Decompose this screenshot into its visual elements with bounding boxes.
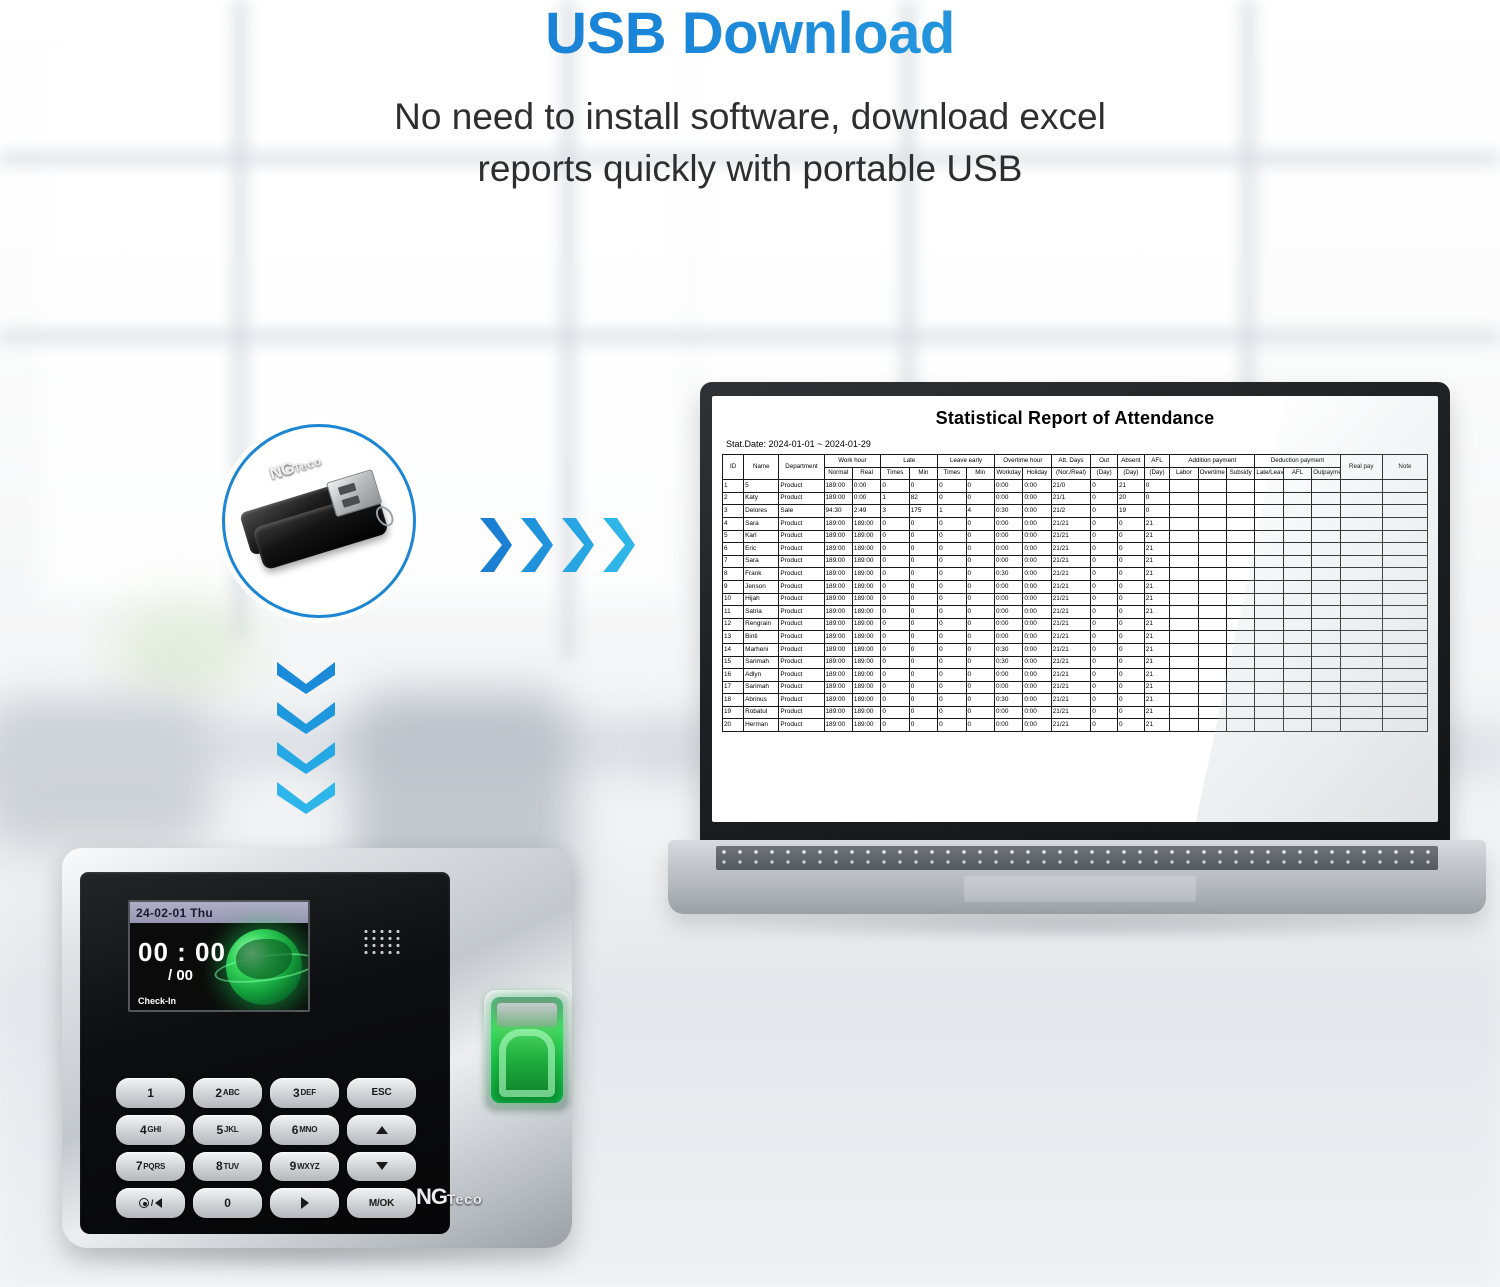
cell-et: 0 <box>938 706 966 719</box>
col-department: Department <box>779 455 824 480</box>
cell-empty <box>1312 568 1340 581</box>
key-label: 7 <box>136 1159 142 1173</box>
cell-et: 0 <box>938 656 966 669</box>
table-row: 7SaraProduct189:00189:0000000:000:0021/2… <box>723 555 1428 568</box>
terminal-brand-text: NG <box>416 1184 447 1209</box>
key-label: 1 <box>147 1086 153 1100</box>
cell-abs: 19 <box>1118 505 1145 518</box>
cell-out: 0 <box>1091 656 1118 669</box>
cell-empty <box>1226 517 1254 530</box>
cell-lt: 0 <box>881 669 909 682</box>
cell-otw: 0:00 <box>994 706 1022 719</box>
cell-id: 14 <box>723 643 744 656</box>
cell-normal: 189:00 <box>824 618 852 631</box>
usb-brand-text: NG <box>267 458 296 483</box>
cell-oth: 0:00 <box>1023 505 1051 518</box>
cell-empty <box>1198 593 1226 606</box>
key-0-button[interactable]: 0 <box>193 1188 262 1218</box>
cell-oth: 0:00 <box>1023 606 1051 619</box>
cell-name: Abrinus <box>744 694 779 707</box>
cell-empty <box>1255 669 1283 682</box>
table-row: 20HermanProduct189:00189:0000000:000:002… <box>723 719 1428 732</box>
cell-empty <box>1226 480 1254 493</box>
cell-empty <box>1382 719 1427 732</box>
cell-id: 18 <box>723 694 744 707</box>
key-9-button[interactable]: 9WXYZ <box>270 1152 339 1182</box>
sub-ded-afl: AFL <box>1283 467 1311 480</box>
key-5-button[interactable]: 5JKL <box>193 1115 262 1145</box>
cell-real: 189:00 <box>852 719 880 732</box>
cell-oth: 0:00 <box>1023 593 1051 606</box>
cell-empty <box>1340 656 1382 669</box>
col-id: ID <box>723 455 744 480</box>
cell-afl: 21 <box>1144 618 1169 631</box>
cell-normal: 189:00 <box>824 631 852 644</box>
cell-empty <box>1226 681 1254 694</box>
cell-att: 21/21 <box>1051 593 1090 606</box>
cell-normal: 189:00 <box>824 543 852 556</box>
cell-empty <box>1198 618 1226 631</box>
cell-lt: 0 <box>881 543 909 556</box>
arrow-up-icon[interactable] <box>347 1115 416 1145</box>
cell-oth: 0:00 <box>1023 530 1051 543</box>
col-afl: AFL <box>1144 455 1169 468</box>
cell-empty <box>1312 643 1340 656</box>
cell-oth: 0:00 <box>1023 643 1051 656</box>
cell-lt: 0 <box>881 719 909 732</box>
key-sublabel: GHI <box>147 1125 161 1134</box>
cell-empty <box>1255 694 1283 707</box>
display-clock: 00 : 00 <box>138 937 226 968</box>
laptop-trackpad[interactable] <box>964 876 1196 902</box>
sub-late-times: Times <box>881 467 909 480</box>
cell-otw: 0:00 <box>994 618 1022 631</box>
cell-empty <box>1255 543 1283 556</box>
cell-em: 0 <box>966 606 994 619</box>
cell-abs: 0 <box>1118 643 1145 656</box>
cell-normal: 189:00 <box>824 480 852 493</box>
cell-empty <box>1198 517 1226 530</box>
cell-empty <box>1170 681 1198 694</box>
cell-otw: 0:00 <box>994 480 1022 493</box>
cell-abs: 0 <box>1118 543 1145 556</box>
sub-real: Real <box>852 467 880 480</box>
sub-le-min: Min <box>966 467 994 480</box>
cell-out: 0 <box>1091 631 1118 644</box>
table-row: 8FrankProduct189:00189:0000000:300:0021/… <box>723 568 1428 581</box>
cell-dept: Product <box>779 631 824 644</box>
cell-normal: 189:00 <box>824 694 852 707</box>
cell-oth: 0:00 <box>1023 656 1051 669</box>
key-label: 4 <box>140 1123 146 1137</box>
laptop-lid: Statistical Report of Attendance Stat.Da… <box>700 382 1450 844</box>
sub-subsidy: Subsidy <box>1226 467 1254 480</box>
cell-abs: 21 <box>1118 480 1145 493</box>
bg-desk <box>0 726 700 766</box>
cell-name: Herman <box>744 719 779 732</box>
cell-empty <box>1283 656 1311 669</box>
report-title: Statistical Report of Attendance <box>722 408 1428 429</box>
cell-empty <box>1170 669 1198 682</box>
cell-empty <box>1226 543 1254 556</box>
cell-em: 0 <box>966 631 994 644</box>
cell-id: 1 <box>723 480 744 493</box>
cell-real: 189:00 <box>852 643 880 656</box>
cell-normal: 189:00 <box>824 706 852 719</box>
cell-empty <box>1198 681 1226 694</box>
cell-id: 4 <box>723 517 744 530</box>
cell-empty <box>1226 618 1254 631</box>
cell-et: 0 <box>938 606 966 619</box>
cell-empty <box>1226 656 1254 669</box>
cell-name: Delores <box>744 505 779 518</box>
cell-empty <box>1170 568 1198 581</box>
cell-name: Eric <box>744 543 779 556</box>
cell-empty <box>1312 719 1340 732</box>
sub-holiday: Holiday <box>1023 467 1051 480</box>
key-label: 2 <box>215 1086 221 1100</box>
cell-em: 0 <box>966 618 994 631</box>
table-row: 15Product189:000:0000000:000:0021/00210 <box>723 480 1428 493</box>
col-group-deduction-payment: Deduction payment <box>1255 455 1340 468</box>
cell-empty <box>1198 694 1226 707</box>
cell-empty <box>1382 492 1427 505</box>
cell-att: 21/21 <box>1051 618 1090 631</box>
cell-empty <box>1198 543 1226 556</box>
cell-empty <box>1340 480 1382 493</box>
cell-abs: 0 <box>1118 669 1145 682</box>
cell-empty <box>1226 580 1254 593</box>
key-6-button[interactable]: 6MNO <box>270 1115 339 1145</box>
cell-dept: Product <box>779 580 824 593</box>
report-table-body: 15Product189:000:0000000:000:0021/002102… <box>723 480 1428 732</box>
cell-empty <box>1198 631 1226 644</box>
cell-oth: 0:00 <box>1023 669 1051 682</box>
table-row: 14MarheniProduct189:00189:0000000:300:00… <box>723 643 1428 656</box>
cell-lm: 82 <box>909 492 937 505</box>
cell-otw: 0:00 <box>994 530 1022 543</box>
cell-name: Sara <box>744 517 779 530</box>
usb-brand-logo: NGTeco <box>267 450 324 485</box>
sub-workday: Workday <box>994 467 1022 480</box>
cell-otw: 0:00 <box>994 555 1022 568</box>
chevron-right-icon <box>601 516 637 574</box>
cell-empty <box>1283 669 1311 682</box>
cell-empty <box>1283 681 1311 694</box>
sub-overtime: Overtime <box>1198 467 1226 480</box>
key-m-ok-button[interactable]: M/OK <box>347 1188 416 1218</box>
terminal-brand-suffix: Teco <box>447 1191 483 1207</box>
cell-abs: 0 <box>1118 656 1145 669</box>
cell-lm: 0 <box>909 681 937 694</box>
cell-real: 189:00 <box>852 669 880 682</box>
cell-empty <box>1283 530 1311 543</box>
cell-att: 21/21 <box>1051 706 1090 719</box>
table-row: 13BintiProduct189:00189:0000000:000:0021… <box>723 631 1428 644</box>
cell-id: 15 <box>723 656 744 669</box>
cell-em: 0 <box>966 580 994 593</box>
cell-empty <box>1198 505 1226 518</box>
terminal-keypad: 12ABC3DEFESC4GHI5JKL6MNO7PQRS8TUV9WXYZ/0… <box>116 1078 416 1218</box>
cell-lm: 0 <box>909 480 937 493</box>
cell-empty <box>1283 480 1311 493</box>
cell-empty <box>1255 681 1283 694</box>
arrow-up-glyph <box>376 1126 388 1134</box>
key-4-button[interactable]: 4GHI <box>116 1115 185 1145</box>
cell-empty <box>1312 492 1340 505</box>
cell-lt: 0 <box>881 606 909 619</box>
cell-lm: 0 <box>909 543 937 556</box>
cell-empty <box>1226 706 1254 719</box>
cell-real: 189:00 <box>852 530 880 543</box>
cell-empty <box>1255 706 1283 719</box>
col-group-work-hour: Work hour <box>824 455 881 468</box>
header: USB Download No need to install software… <box>0 0 1500 196</box>
cell-afl: 0 <box>1144 480 1169 493</box>
cell-empty <box>1382 580 1427 593</box>
cell-empty <box>1312 480 1340 493</box>
cell-empty <box>1170 505 1198 518</box>
cell-lm: 0 <box>909 631 937 644</box>
cell-empty <box>1382 555 1427 568</box>
cell-empty <box>1170 543 1198 556</box>
sub-le-times: Times <box>938 467 966 480</box>
cell-em: 0 <box>966 517 994 530</box>
col-att-days: Att. Days <box>1051 455 1090 468</box>
key-7-button[interactable]: 7PQRS <box>116 1152 185 1182</box>
cell-lm: 0 <box>909 580 937 593</box>
sub-att-days: (Nor./Real) <box>1051 467 1090 480</box>
fingerprint-scanner[interactable] <box>484 990 570 1110</box>
key-sublabel: ABC <box>223 1088 240 1097</box>
cell-empty <box>1382 643 1427 656</box>
cell-lm: 175 <box>909 505 937 518</box>
cell-real: 189:00 <box>852 593 880 606</box>
chevron-right-icon <box>519 516 555 574</box>
cell-out: 0 <box>1091 706 1118 719</box>
cell-empty <box>1255 580 1283 593</box>
cell-normal: 189:00 <box>824 681 852 694</box>
cell-otw: 0:00 <box>994 492 1022 505</box>
cell-empty <box>1340 618 1382 631</box>
cell-dept: Product <box>779 656 824 669</box>
cell-lt: 0 <box>881 555 909 568</box>
cell-empty <box>1226 669 1254 682</box>
cell-out: 0 <box>1091 505 1118 518</box>
cell-dept: Product <box>779 618 824 631</box>
cell-empty <box>1198 656 1226 669</box>
cell-empty <box>1255 719 1283 732</box>
cell-att: 21/21 <box>1051 555 1090 568</box>
cell-normal: 189:00 <box>824 643 852 656</box>
cell-empty <box>1170 706 1198 719</box>
cell-otw: 0:00 <box>994 543 1022 556</box>
cell-empty <box>1255 631 1283 644</box>
cell-normal: 189:00 <box>824 492 852 505</box>
cell-oth: 0:00 <box>1023 555 1051 568</box>
sub-labor: Labor <box>1170 467 1198 480</box>
cell-afl: 21 <box>1144 669 1169 682</box>
key-1-button[interactable]: 1 <box>116 1078 185 1108</box>
cell-otw: 0:00 <box>994 606 1022 619</box>
cell-lt: 0 <box>881 580 909 593</box>
cell-real: 0:00 <box>852 480 880 493</box>
chevron-right-icon <box>560 516 596 574</box>
cell-abs: 0 <box>1118 719 1145 732</box>
cell-id: 19 <box>723 706 744 719</box>
cell-att: 21/2 <box>1051 505 1090 518</box>
cell-dept: Product <box>779 606 824 619</box>
page-title: USB Download <box>0 4 1500 65</box>
cell-em: 0 <box>966 480 994 493</box>
cell-empty <box>1340 492 1382 505</box>
cell-otw: 0:00 <box>994 580 1022 593</box>
laptop-screen: Statistical Report of Attendance Stat.Da… <box>712 396 1438 822</box>
cell-lt: 0 <box>881 593 909 606</box>
globe-icon <box>226 929 302 1005</box>
table-row: 3DeloresSale94:302:493175140:300:0021/20… <box>723 505 1428 518</box>
cell-empty <box>1255 530 1283 543</box>
display-date-bar: 24-02-01 Thu <box>130 902 308 923</box>
power-left-glyph: / <box>139 1198 162 1208</box>
cell-et: 0 <box>938 694 966 707</box>
cell-dept: Product <box>779 593 824 606</box>
cell-real: 189:00 <box>852 606 880 619</box>
cell-att: 21/21 <box>1051 606 1090 619</box>
cell-et: 0 <box>938 530 966 543</box>
keyboard-keys <box>720 848 1434 868</box>
key-3-button[interactable]: 3DEF <box>270 1078 339 1108</box>
usb-brand-suffix: Teco <box>292 455 323 475</box>
key-8-button[interactable]: 8TUV <box>193 1152 262 1182</box>
key-2-button[interactable]: 2ABC <box>193 1078 262 1108</box>
cell-normal: 189:00 <box>824 517 852 530</box>
cell-empty <box>1170 593 1198 606</box>
cell-empty <box>1340 719 1382 732</box>
key-esc-button[interactable]: ESC <box>347 1078 416 1108</box>
cell-empty <box>1340 706 1382 719</box>
key-sublabel: PQRS <box>143 1162 165 1171</box>
cell-otw: 0:00 <box>994 593 1022 606</box>
cell-real: 189:00 <box>852 568 880 581</box>
cell-name: Rengrain <box>744 618 779 631</box>
cell-name: Sarimah <box>744 681 779 694</box>
cell-att: 21/21 <box>1051 656 1090 669</box>
key-sublabel: TUV <box>224 1162 239 1171</box>
cell-empty <box>1340 517 1382 530</box>
table-row: 17SarimahProduct189:00189:0000000:000:00… <box>723 681 1428 694</box>
terminal-brand-logo: NGTeco <box>416 1184 483 1210</box>
cell-empty <box>1382 606 1427 619</box>
cell-empty <box>1283 706 1311 719</box>
col-group-leave-early: Leave early <box>938 455 995 468</box>
cell-empty <box>1382 669 1427 682</box>
col-real-pay: Real pay <box>1340 455 1382 480</box>
cell-empty <box>1340 580 1382 593</box>
cell-empty <box>1312 505 1340 518</box>
table-row: 10HijahProduct189:00189:0000000:000:0021… <box>723 593 1428 606</box>
cell-empty <box>1283 606 1311 619</box>
arrow-right-icon[interactable] <box>270 1188 339 1218</box>
cell-real: 2:49 <box>852 505 880 518</box>
cell-out: 0 <box>1091 543 1118 556</box>
laptop-keyboard[interactable] <box>716 846 1438 870</box>
cell-empty <box>1198 706 1226 719</box>
cell-em: 0 <box>966 593 994 606</box>
cell-lt: 0 <box>881 631 909 644</box>
cell-et: 0 <box>938 580 966 593</box>
cell-empty <box>1170 618 1198 631</box>
cell-empty <box>1226 606 1254 619</box>
cell-dept: Product <box>779 694 824 707</box>
cell-name: Robatul <box>744 706 779 719</box>
cell-empty <box>1198 606 1226 619</box>
cell-empty <box>1340 555 1382 568</box>
cell-afl: 21 <box>1144 631 1169 644</box>
key-label: 3 <box>293 1086 299 1100</box>
cell-lm: 0 <box>909 706 937 719</box>
cell-lt: 0 <box>881 568 909 581</box>
cell-empty <box>1226 530 1254 543</box>
cell-empty <box>1312 694 1340 707</box>
sub-late-leave: Late/Leave <box>1255 467 1283 480</box>
page-subtitle: No need to install software, download ex… <box>0 91 1500 196</box>
cell-name: Binti <box>744 631 779 644</box>
cell-et: 0 <box>938 543 966 556</box>
cell-otw: 0:00 <box>994 669 1022 682</box>
cell-empty <box>1340 681 1382 694</box>
subtitle-line-1: No need to install software, download ex… <box>0 91 1500 144</box>
cell-att: 21/21 <box>1051 694 1090 707</box>
cell-empty <box>1382 530 1427 543</box>
cell-att: 21/21 <box>1051 580 1090 593</box>
cell-att: 21/21 <box>1051 517 1090 530</box>
cell-out: 0 <box>1091 530 1118 543</box>
arrow-down-icon[interactable] <box>347 1152 416 1182</box>
cell-lm: 0 <box>909 530 937 543</box>
cell-id: 11 <box>723 606 744 619</box>
laptop-base <box>668 840 1486 914</box>
stat-date-value: 2024-01-01 ~ 2024-01-29 <box>769 439 871 449</box>
cell-empty <box>1382 656 1427 669</box>
cell-lt: 0 <box>881 517 909 530</box>
power-left-icon[interactable]: / <box>116 1188 185 1218</box>
table-row: 19RobatulProduct189:00189:0000000:000:00… <box>723 706 1428 719</box>
cell-empty <box>1340 606 1382 619</box>
cell-name: Sarimah <box>744 656 779 669</box>
key-sublabel: MNO <box>299 1125 317 1134</box>
cell-em: 0 <box>966 719 994 732</box>
bg-window-mullion <box>0 330 1500 343</box>
sub-late-min: Min <box>909 467 937 480</box>
cell-empty <box>1382 505 1427 518</box>
cell-et: 0 <box>938 631 966 644</box>
cell-lm: 0 <box>909 719 937 732</box>
cell-empty <box>1255 505 1283 518</box>
chevron-down-icon <box>275 700 337 736</box>
subtitle-line-2: reports quickly with portable USB <box>0 143 1500 196</box>
cell-abs: 0 <box>1118 631 1145 644</box>
cell-id: 6 <box>723 543 744 556</box>
laptop-shadow <box>726 910 1426 940</box>
cell-real: 189:00 <box>852 631 880 644</box>
cell-empty <box>1170 580 1198 593</box>
cell-abs: 0 <box>1118 568 1145 581</box>
cell-empty <box>1283 517 1311 530</box>
cell-afl: 21 <box>1144 681 1169 694</box>
cell-real: 189:00 <box>852 580 880 593</box>
report-table: ID Name Department Work hour Late Leave … <box>722 454 1428 732</box>
